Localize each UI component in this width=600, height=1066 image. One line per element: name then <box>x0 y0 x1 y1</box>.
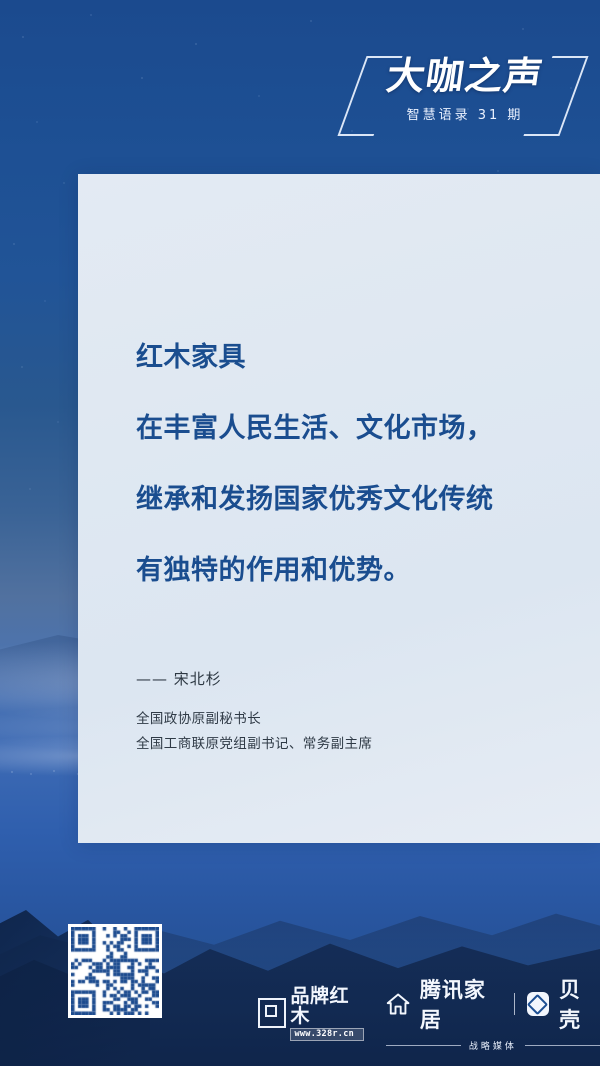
brand-url: www.328r.cn <box>290 1028 363 1041</box>
partners-subtitle-row: 战略媒体 <box>386 1039 600 1052</box>
brand-text: 品牌红木 www.328r.cn <box>290 986 363 1041</box>
footer-logo-row: 品牌红木 www.328r.cn 腾讯家居 贝壳 战略媒体 <box>258 984 600 1042</box>
partner-name-beike: 贝壳 <box>559 974 600 1034</box>
attribution-name: —— 宋北杉 <box>136 668 556 689</box>
logo-subtitle: 智慧语录 31 期 <box>370 104 560 123</box>
quote-line: 红木家具 <box>136 322 576 393</box>
quote-line: 继承和发扬国家优秀文化传统 <box>136 464 576 535</box>
partner-name-tencent: 腾讯家居 <box>420 974 502 1034</box>
subtitle-rule-right <box>525 1045 600 1046</box>
quote-card: 红木家具 在丰富人民生活、文化市场， 继承和发扬国家优秀文化传统 有独特的作用和… <box>78 174 600 843</box>
quote-block: 红木家具 在丰富人民生活、文化市场， 继承和发扬国家优秀文化传统 有独特的作用和… <box>136 322 576 606</box>
brand-mark-icon <box>258 998 286 1028</box>
attribution-block: —— 宋北杉 全国政协原副秘书长 全国工商联原党组副书记、常务副主席 <box>136 668 556 757</box>
partners-row: 腾讯家居 贝壳 <box>386 974 600 1034</box>
shell-diamond-icon <box>527 992 549 1016</box>
house-icon <box>386 991 410 1017</box>
quote-line: 有独特的作用和优势。 <box>136 535 576 606</box>
attribution-role: 全国工商联原党组副书记、常务副主席 <box>136 732 556 757</box>
partners-block: 腾讯家居 贝壳 战略媒体 <box>386 974 600 1052</box>
qr-code[interactable] <box>68 924 162 1018</box>
partner-divider <box>514 993 515 1015</box>
poster-root: 大咖之声 智慧语录 31 期 红木家具 在丰富人民生活、文化市场， 继承和发扬国… <box>0 0 600 1066</box>
attribution-role: 全国政协原副秘书长 <box>136 707 556 732</box>
logo-main-title: 大咖之声 <box>367 52 564 100</box>
subtitle-rule-left <box>386 1045 461 1046</box>
brand-hongmu-logo[interactable]: 品牌红木 www.328r.cn <box>258 986 364 1041</box>
brand-name: 品牌红木 <box>290 986 363 1026</box>
series-logo: 大咖之声 智慧语录 31 期 <box>352 52 574 136</box>
quote-line: 在丰富人民生活、文化市场， <box>136 393 576 464</box>
partners-subtitle: 战略媒体 <box>469 1039 517 1052</box>
